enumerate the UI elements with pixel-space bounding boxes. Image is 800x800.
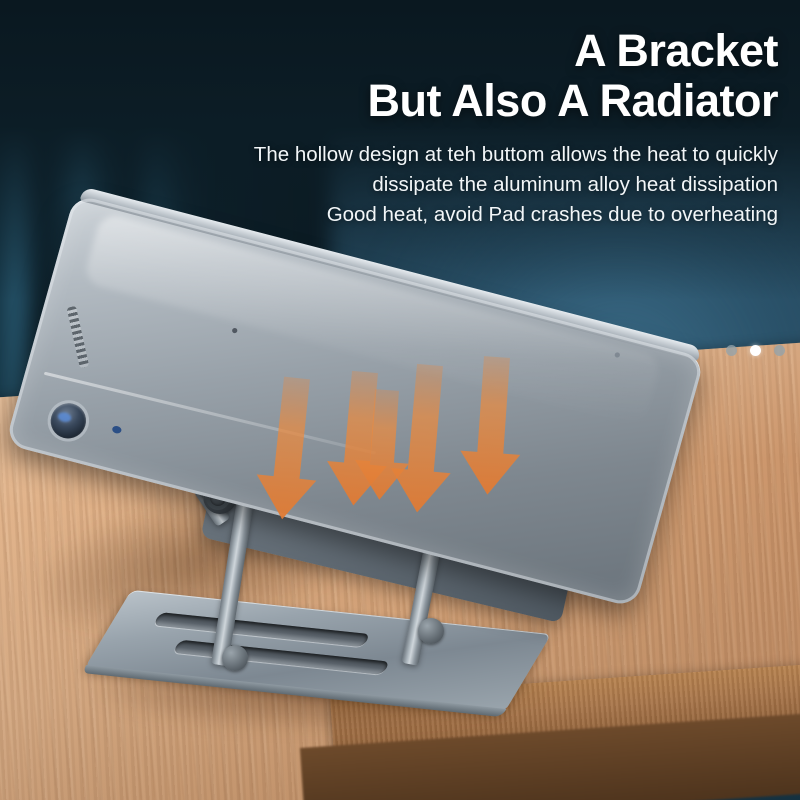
stand-foot-hinge-right: [418, 618, 444, 644]
carousel-dot-1[interactable]: [726, 345, 737, 356]
marketing-copy: A Bracket But Also A Radiator The hollow…: [78, 26, 778, 230]
headline-line-2: But Also A Radiator: [78, 76, 778, 126]
carousel-dot-3[interactable]: [774, 345, 785, 356]
subtitle-line-3: Good heat, avoid Pad crashes due to over…: [78, 200, 778, 230]
carousel-indicator[interactable]: [726, 345, 785, 356]
subtitle-text: The hollow design at teh buttom allows t…: [78, 140, 778, 230]
subtitle-line-1: The hollow design at teh buttom allows t…: [78, 140, 778, 170]
headline-line-1: A Bracket: [574, 25, 778, 76]
carousel-dot-2[interactable]: [750, 345, 761, 356]
page-title: A Bracket But Also A Radiator: [78, 26, 778, 127]
product-banner: A Bracket But Also A Radiator The hollow…: [0, 0, 800, 800]
subtitle-line-2: dissipate the aluminum alloy heat dissip…: [78, 170, 778, 200]
stand-foot-hinge-left: [222, 645, 248, 671]
